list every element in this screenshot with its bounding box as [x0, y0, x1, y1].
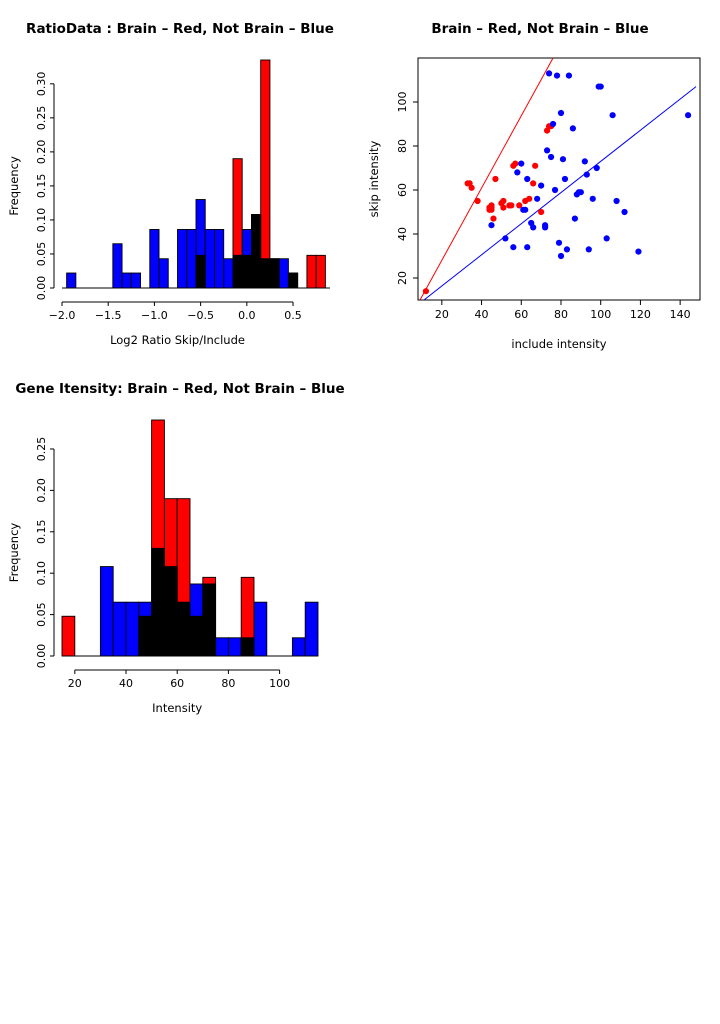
scatter-point	[474, 198, 480, 204]
x-tick-label: 100	[269, 677, 290, 690]
histogram-bar	[205, 229, 214, 288]
histogram-bar	[224, 259, 233, 288]
histogram-bar	[100, 567, 113, 656]
y-axis-label: skip intensity	[367, 140, 381, 217]
histogram-bar	[203, 577, 216, 656]
x-axis: 20406080100	[68, 670, 290, 690]
panel-gene-intensity-histogram: Gene Itensity: Brain – Red, Not Brain – …	[0, 360, 360, 720]
scatter-point	[538, 183, 544, 189]
y-tick-label: 0.15	[35, 174, 48, 199]
y-tick-label: 60	[396, 183, 409, 197]
scatter-point	[469, 185, 475, 191]
scatter-point	[538, 209, 544, 215]
x-tick-label: 40	[475, 308, 489, 321]
scatter-plot-svg: Brain – Red, Not Brain – Blue20406080100…	[360, 0, 720, 360]
histogram-bar	[177, 499, 190, 656]
histogram-bar	[316, 255, 325, 288]
scatter-point	[572, 216, 578, 222]
x-tick-label: 80	[554, 308, 568, 321]
x-tick-label: 120	[630, 308, 651, 321]
scatter-point	[534, 196, 540, 202]
y-axis: 0.000.050.100.150.200.25	[35, 437, 54, 669]
x-tick-label: 0.5	[284, 309, 302, 322]
scatter-series	[423, 123, 554, 294]
scatter-point	[524, 244, 530, 250]
y-axis: 20406080100	[396, 92, 418, 286]
histogram-bar	[150, 229, 159, 288]
scatter-point	[526, 196, 532, 202]
scatter-point	[488, 222, 494, 228]
scatter-point	[560, 156, 566, 162]
scatter-point	[558, 253, 564, 259]
scatter-point	[548, 154, 554, 160]
histogram-bar	[254, 602, 267, 656]
scatter-point	[522, 207, 528, 213]
scatter-point	[542, 224, 548, 230]
histogram-bar	[113, 244, 122, 288]
x-tick-label: −1.0	[141, 309, 168, 322]
regression-line	[424, 87, 696, 300]
scatter-point	[490, 216, 496, 222]
x-tick-label: 0.0	[238, 309, 256, 322]
scatter-point	[532, 163, 538, 169]
x-axis-label: Log2 Ratio Skip/Include	[110, 333, 245, 347]
scatter-point	[582, 158, 588, 164]
plot-content	[420, 58, 696, 300]
x-axis: 20406080100120140	[435, 300, 691, 321]
y-tick-label: 0.10	[35, 208, 48, 233]
scatter-point	[586, 246, 592, 252]
y-tick-label: 0.25	[35, 437, 48, 462]
scatter-point	[562, 176, 568, 182]
x-axis-label: include intensity	[511, 337, 606, 351]
chart-title: Brain – Red, Not Brain – Blue	[431, 21, 648, 37]
y-axis-label: Frequency	[7, 156, 21, 216]
y-tick-label: 100	[396, 92, 409, 113]
y-tick-label: 0.15	[35, 520, 48, 545]
scatter-point	[558, 110, 564, 116]
x-tick-label: −0.5	[187, 309, 214, 322]
scatter-point	[524, 176, 530, 182]
histogram-bar	[190, 616, 203, 656]
y-tick-label: 80	[396, 139, 409, 153]
scatter-point	[544, 147, 550, 153]
scatter-point	[492, 176, 498, 182]
scatter-point	[556, 240, 562, 246]
chart-title: RatioData : Brain – Red, Not Brain – Blu…	[26, 21, 334, 37]
histogram-bar	[251, 215, 260, 289]
histogram-bar	[126, 602, 139, 656]
x-tick-label: 20	[68, 677, 82, 690]
scatter-point	[508, 202, 514, 208]
histogram-bar	[279, 259, 288, 288]
x-tick-label: −1.5	[95, 309, 122, 322]
gene-histogram-svg: Gene Itensity: Brain – Red, Not Brain – …	[0, 360, 360, 720]
histogram-bar	[62, 616, 75, 656]
ratio-histogram-svg: RatioData : Brain – Red, Not Brain – Blu…	[0, 0, 360, 360]
scatter-point	[552, 187, 558, 193]
y-axis-label: Frequency	[7, 523, 21, 583]
scatter-point	[488, 202, 494, 208]
x-tick-label: 80	[221, 677, 235, 690]
scatter-point	[554, 73, 560, 79]
histogram-bar	[228, 638, 241, 656]
panel-gene-info: G6850040@J914618@j_at altTxEnd Gna13 chr…	[360, 360, 720, 720]
x-tick-label: 20	[435, 308, 449, 321]
histogram-bar	[159, 259, 168, 288]
scatter-point	[512, 161, 518, 167]
x-axis: −2.0−1.5−1.0−0.50.00.5	[49, 302, 302, 322]
histogram-bar	[292, 638, 305, 656]
y-tick-label: 0.20	[35, 140, 48, 165]
scatter-point	[546, 70, 552, 76]
regression-line	[420, 58, 553, 300]
scatter-point	[604, 235, 610, 241]
scatter-point	[500, 198, 506, 204]
scatter-point	[621, 209, 627, 215]
histogram-bar	[196, 255, 205, 288]
x-tick-label: 100	[590, 308, 611, 321]
x-tick-label: 140	[670, 308, 691, 321]
histogram-bar	[216, 638, 229, 656]
histogram-bar	[305, 602, 318, 656]
y-tick-label: 20	[396, 271, 409, 285]
histogram-bar	[139, 616, 152, 656]
y-tick-label: 0.05	[35, 242, 48, 267]
scatter-point	[613, 198, 619, 204]
scatter-point	[610, 112, 616, 118]
scatter-point	[530, 180, 536, 186]
x-axis-label: Intensity	[152, 701, 202, 715]
y-axis: 0.000.050.100.150.200.250.30	[35, 72, 54, 301]
histogram-bar	[152, 420, 165, 656]
x-tick-label: 60	[170, 677, 184, 690]
histogram-bar	[113, 602, 126, 656]
y-tick-label: 0.00	[35, 644, 48, 669]
y-tick-label: 40	[396, 227, 409, 241]
figure-canvas: RatioData : Brain – Red, Not Brain – Blu…	[0, 0, 720, 720]
histogram-bar	[241, 577, 254, 656]
panel-intensity-scatter: Brain – Red, Not Brain – Blue20406080100…	[360, 0, 720, 360]
scatter-series	[488, 70, 691, 259]
histogram-bar	[261, 60, 270, 288]
scatter-point	[510, 244, 516, 250]
panel-ratio-histogram: RatioData : Brain – Red, Not Brain – Blu…	[0, 0, 360, 360]
histogram-bar	[187, 229, 196, 288]
scatter-point	[594, 165, 600, 171]
scatter-point	[635, 249, 641, 255]
scatter-point	[530, 224, 536, 230]
scatter-point	[502, 235, 508, 241]
y-tick-label: 0.25	[35, 106, 48, 130]
histogram-bar	[164, 499, 177, 656]
scatter-point	[423, 288, 429, 294]
bars-group-red	[62, 420, 254, 656]
histogram-bar	[288, 273, 297, 288]
plot-frame	[418, 58, 700, 300]
scatter-point	[578, 189, 584, 195]
chart-title: Gene Itensity: Brain – Red, Not Brain – …	[15, 381, 344, 397]
scatter-point	[514, 169, 520, 175]
x-tick-label: −2.0	[49, 309, 76, 322]
histogram-bar	[242, 255, 251, 288]
scatter-point	[570, 125, 576, 131]
scatter-point	[685, 112, 691, 118]
histogram-bar	[131, 273, 140, 288]
scatter-point	[598, 84, 604, 90]
histogram-bar	[178, 229, 187, 288]
y-tick-label: 0.30	[35, 72, 48, 97]
histogram-bar	[307, 255, 316, 288]
histogram-bar	[122, 273, 131, 288]
y-tick-label: 0.05	[35, 602, 48, 627]
scatter-point	[590, 196, 596, 202]
y-tick-label: 0.10	[35, 561, 48, 586]
histogram-bar	[270, 259, 279, 288]
scatter-point	[550, 121, 556, 127]
scatter-point	[500, 205, 506, 211]
x-tick-label: 40	[119, 677, 133, 690]
scatter-point	[564, 246, 570, 252]
histogram-bar	[214, 229, 223, 288]
histogram-bar	[67, 273, 76, 288]
scatter-point	[518, 161, 524, 167]
scatter-point	[566, 73, 572, 79]
x-tick-label: 60	[514, 308, 528, 321]
y-tick-label: 0.20	[35, 478, 48, 503]
histogram-bar	[233, 159, 242, 288]
y-tick-label: 0.00	[35, 276, 48, 301]
scatter-point	[584, 172, 590, 178]
